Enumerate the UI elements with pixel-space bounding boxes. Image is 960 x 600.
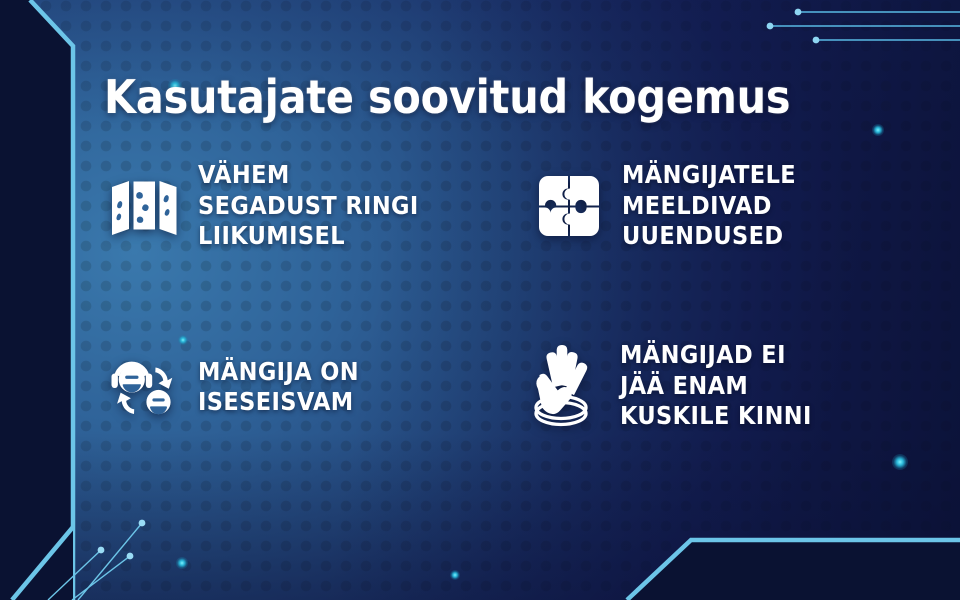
feature-label: MÄNGIJA ON ISESEISVAM xyxy=(198,357,359,418)
glow-dot xyxy=(892,454,908,470)
glow-dot xyxy=(872,124,884,136)
feature-item-players-no-longer-stuck[interactable]: MÄNGIJAD EI JÄÄ ENAM KUSKILE KINNI xyxy=(518,340,812,432)
page-title: Kasutajate soovitud kogemus xyxy=(104,74,790,120)
puzzle-pieces-icon xyxy=(532,169,606,243)
corner-panel-bottom-left xyxy=(0,527,73,600)
accent-lines-bottom-left xyxy=(48,520,145,600)
folded-map-icon xyxy=(108,169,182,243)
glow-dot xyxy=(178,335,188,345)
glow-dot xyxy=(450,570,460,580)
headset-support-swap-icon xyxy=(108,350,182,424)
slide-canvas: Kasutajate soovitud kogemus xyxy=(0,0,960,600)
accent-lines-top-right xyxy=(767,9,960,44)
feature-label: VÄHEM SEGADUST RINGI LIIKUMISEL xyxy=(198,160,419,252)
feature-label: MÄNGIJAD EI JÄÄ ENAM KUSKILE KINNI xyxy=(620,340,812,432)
feature-item-player-more-independent[interactable]: MÄNGIJA ON ISESEISVAM xyxy=(108,350,359,424)
corner-panel-top-left xyxy=(0,0,73,600)
corner-panel-bottom-right xyxy=(627,540,960,600)
feature-label: MÄNGIJATELE MEELDIVAD UUENDUSED xyxy=(622,160,796,252)
feature-item-players-like-updates[interactable]: MÄNGIJATELE MEELDIVAD UUENDUSED xyxy=(532,160,796,252)
glow-dot xyxy=(176,557,188,569)
feature-item-less-confusion-navigating[interactable]: VÄHEM SEGADUST RINGI LIIKUMISEL xyxy=(108,160,419,252)
hand-stuck-in-ripple-icon xyxy=(518,340,604,432)
